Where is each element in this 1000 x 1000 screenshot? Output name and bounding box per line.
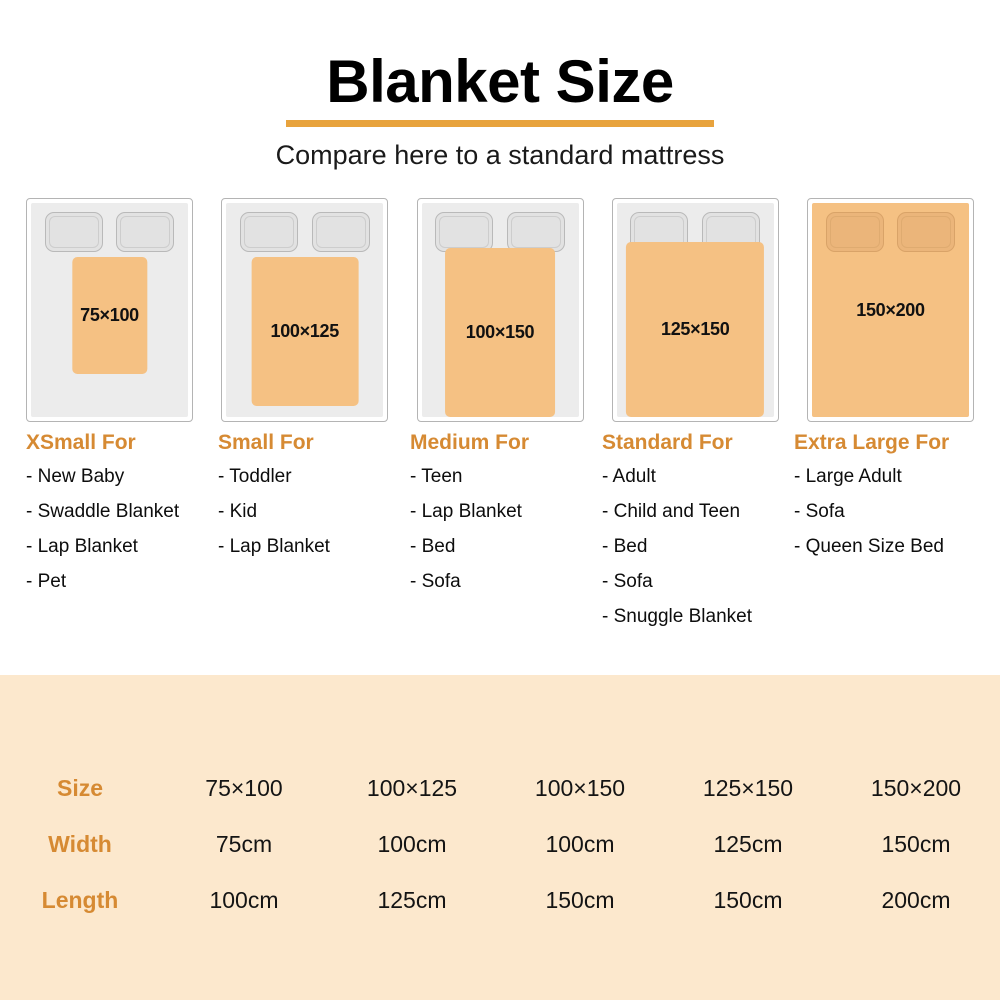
spec-table-band: Size75×100100×125100×150125×150150×200Wi… [0,675,1000,1000]
spec-cell: 150cm [832,816,1000,872]
pillow-icon [435,212,493,252]
description-item: - Teen [410,467,602,486]
spec-cell: 150cm [496,872,664,928]
description-item: - Sofa [794,502,986,521]
description-item: - Large Adult [794,467,986,486]
description-columns: XSmall For- New Baby- Swaddle Blanket- L… [26,431,986,642]
spec-cell: 75cm [160,816,328,872]
pillow-icon [116,212,174,252]
bed-diagram-125×150: 125×150 [612,198,779,422]
spec-cell: 75×100 [160,760,328,816]
pillow-icon [240,212,298,252]
spec-row-label: Size [0,760,160,816]
description-column-3: Medium For- Teen- Lap Blanket- Bed- Sofa [410,431,602,642]
mattress: 125×150 [617,203,774,417]
bed-diagram-75×100: 75×100 [26,198,193,422]
bed-diagram-150×200: 150×200 [807,198,974,422]
page-title: Blanket Size [0,0,1000,112]
header: Blanket Size Compare here to a standard … [0,0,1000,171]
description-item: - Bed [410,537,602,556]
mattress: 100×125 [226,203,383,417]
spec-cell: 125cm [328,872,496,928]
spec-cell: 125cm [664,816,832,872]
spec-cell: 100cm [496,816,664,872]
table-row: Size75×100100×125100×150125×150150×200 [0,760,1000,816]
table-row: Width75cm100cm100cm125cm150cm [0,816,1000,872]
blanket-size-label: 125×150 [661,319,729,340]
description-column-2: Small For- Toddler- Kid- Lap Blanket [218,431,410,642]
description-title: Extra Large For [794,431,986,455]
table-row: Length100cm125cm150cm150cm200cm [0,872,1000,928]
description-item: - New Baby [26,467,218,486]
blanket-size-label: 150×200 [856,300,924,321]
description-item: - Sofa [410,572,602,591]
blanket-size-label: 75×100 [80,305,139,326]
pillow-icon [312,212,370,252]
description-column-4: Standard For- Adult- Child and Teen- Bed… [602,431,794,642]
description-title: XSmall For [26,431,218,455]
blanket-rect: 100×150 [445,248,555,417]
spec-row-label: Width [0,816,160,872]
description-item: - Kid [218,502,410,521]
blanket-rect: 100×125 [251,257,358,407]
blanket-rect: 125×150 [626,242,764,417]
spec-row-label: Length [0,872,160,928]
blanket-size-label: 100×125 [271,321,339,342]
pillows [422,212,579,252]
pillow-icon [45,212,103,252]
description-title: Small For [218,431,410,455]
pillows [226,212,383,252]
description-item: - Snuggle Blanket [602,607,794,626]
description-item: - Lap Blanket [218,537,410,556]
description-item: - Toddler [218,467,410,486]
spec-cell: 200cm [832,872,1000,928]
description-item: - Bed [602,537,794,556]
description-item: - Pet [26,572,218,591]
title-underline [286,120,714,127]
description-column-5: Extra Large For- Large Adult- Sofa- Quee… [794,431,986,642]
description-title: Standard For [602,431,794,455]
spec-cell: 150cm [664,872,832,928]
description-item: - Swaddle Blanket [26,502,218,521]
spec-cell: 150×200 [832,760,1000,816]
description-column-1: XSmall For- New Baby- Swaddle Blanket- L… [26,431,218,642]
mattress: 100×150 [422,203,579,417]
pillow-icon [507,212,565,252]
spec-cell: 100×150 [496,760,664,816]
pillows [31,212,188,252]
description-item: - Adult [602,467,794,486]
spec-cell: 125×150 [664,760,832,816]
bed-diagram-100×150: 100×150 [417,198,584,422]
description-item: - Lap Blanket [410,502,602,521]
spec-cell: 100cm [328,816,496,872]
description-item: - Lap Blanket [26,537,218,556]
blanket-rect: 150×200 [812,203,969,417]
description-item: - Sofa [602,572,794,591]
description-title: Medium For [410,431,602,455]
bed-diagram-100×125: 100×125 [221,198,388,422]
spec-cell: 100cm [160,872,328,928]
mattress: 75×100 [31,203,188,417]
mattress: 150×200 [812,203,969,417]
blanket-size-label: 100×150 [466,322,534,343]
bed-diagrams: 75×100100×125100×150125×150150×200 [26,198,974,422]
infographic-root: Blanket Size Compare here to a standard … [0,0,1000,1000]
blanket-rect: 75×100 [72,257,147,375]
page-subtitle: Compare here to a standard mattress [0,140,1000,171]
description-item: - Child and Teen [602,502,794,521]
spec-table: Size75×100100×125100×150125×150150×200Wi… [0,760,1000,928]
spec-cell: 100×125 [328,760,496,816]
description-item: - Queen Size Bed [794,537,986,556]
